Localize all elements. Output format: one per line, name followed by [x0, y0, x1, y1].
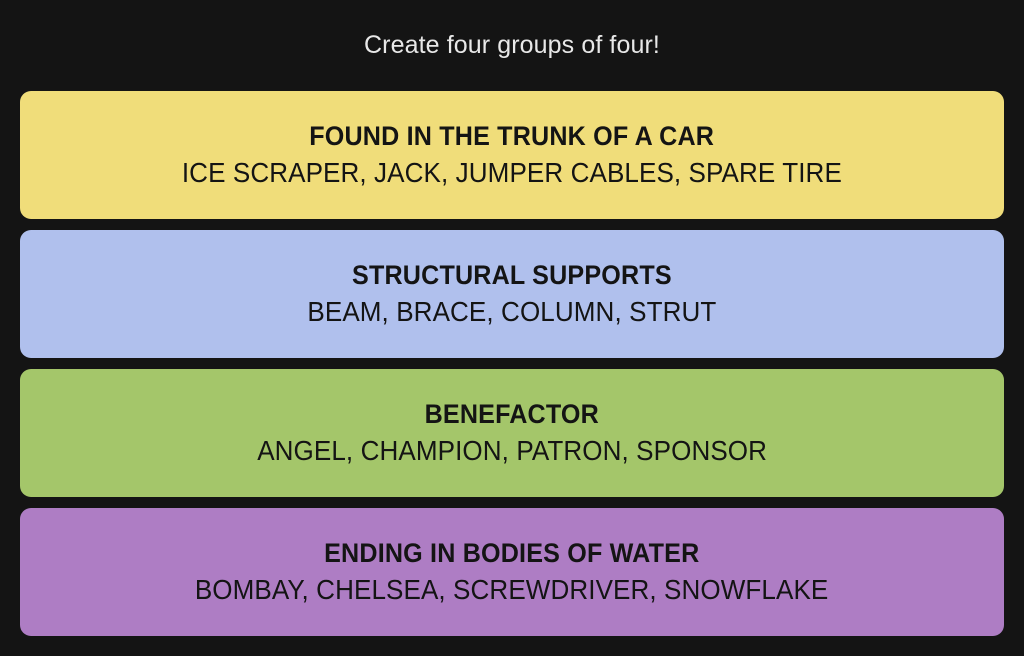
- group-title: STRUCTURAL SUPPORTS: [352, 260, 672, 292]
- group-members: BEAM, BRACE, COLUMN, STRUT: [308, 295, 717, 328]
- group-members: ANGEL, CHAMPION, PATRON, SPONSOR: [257, 434, 767, 467]
- group-title: BENEFACTOR: [425, 399, 599, 431]
- group-card-purple[interactable]: ENDING IN BODIES OF WATER BOMBAY, CHELSE…: [20, 508, 1004, 636]
- page-title: Create four groups of four!: [20, 0, 1004, 91]
- connections-board: Create four groups of four! FOUND IN THE…: [0, 0, 1024, 656]
- group-members: ICE SCRAPER, JACK, JUMPER CABLES, SPARE …: [182, 156, 842, 189]
- group-card-green[interactable]: BENEFACTOR ANGEL, CHAMPION, PATRON, SPON…: [20, 369, 1004, 497]
- group-card-blue[interactable]: STRUCTURAL SUPPORTS BEAM, BRACE, COLUMN,…: [20, 230, 1004, 358]
- group-list: FOUND IN THE TRUNK OF A CAR ICE SCRAPER,…: [20, 91, 1004, 636]
- group-members: BOMBAY, CHELSEA, SCREWDRIVER, SNOWFLAKE: [195, 573, 829, 606]
- group-card-yellow[interactable]: FOUND IN THE TRUNK OF A CAR ICE SCRAPER,…: [20, 91, 1004, 219]
- group-title: FOUND IN THE TRUNK OF A CAR: [310, 121, 715, 153]
- group-title: ENDING IN BODIES OF WATER: [324, 538, 699, 570]
